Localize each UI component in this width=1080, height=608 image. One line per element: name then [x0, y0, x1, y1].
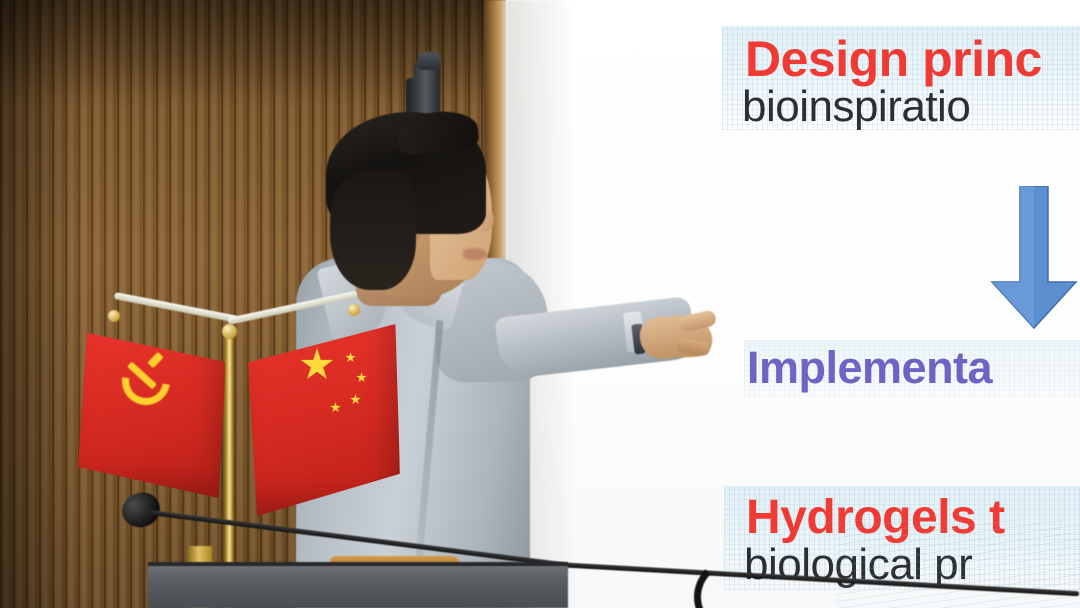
national-flag-finial — [348, 304, 360, 316]
slide-line-bioinspiration: bioinspiratio — [742, 82, 970, 132]
slide-line-design-principles: Design princ — [745, 30, 1042, 88]
party-flag-finial — [108, 310, 120, 322]
presenter-mouth — [463, 248, 487, 260]
ceiling-mount-cap — [418, 52, 440, 70]
lecture-scene: Design princ bioinspiratio Implementa Hy… — [0, 0, 1080, 608]
slide-background-texture — [836, 520, 1080, 608]
slide-line-implementation: Implementa — [747, 342, 992, 394]
down-arrow-icon — [986, 186, 1080, 341]
lectern — [148, 566, 568, 608]
flag-stand-ball — [222, 324, 237, 339]
presenter-hair-side — [330, 170, 416, 290]
slide-content: Design princ bioinspiratio Implementa Hy… — [506, 0, 1080, 608]
